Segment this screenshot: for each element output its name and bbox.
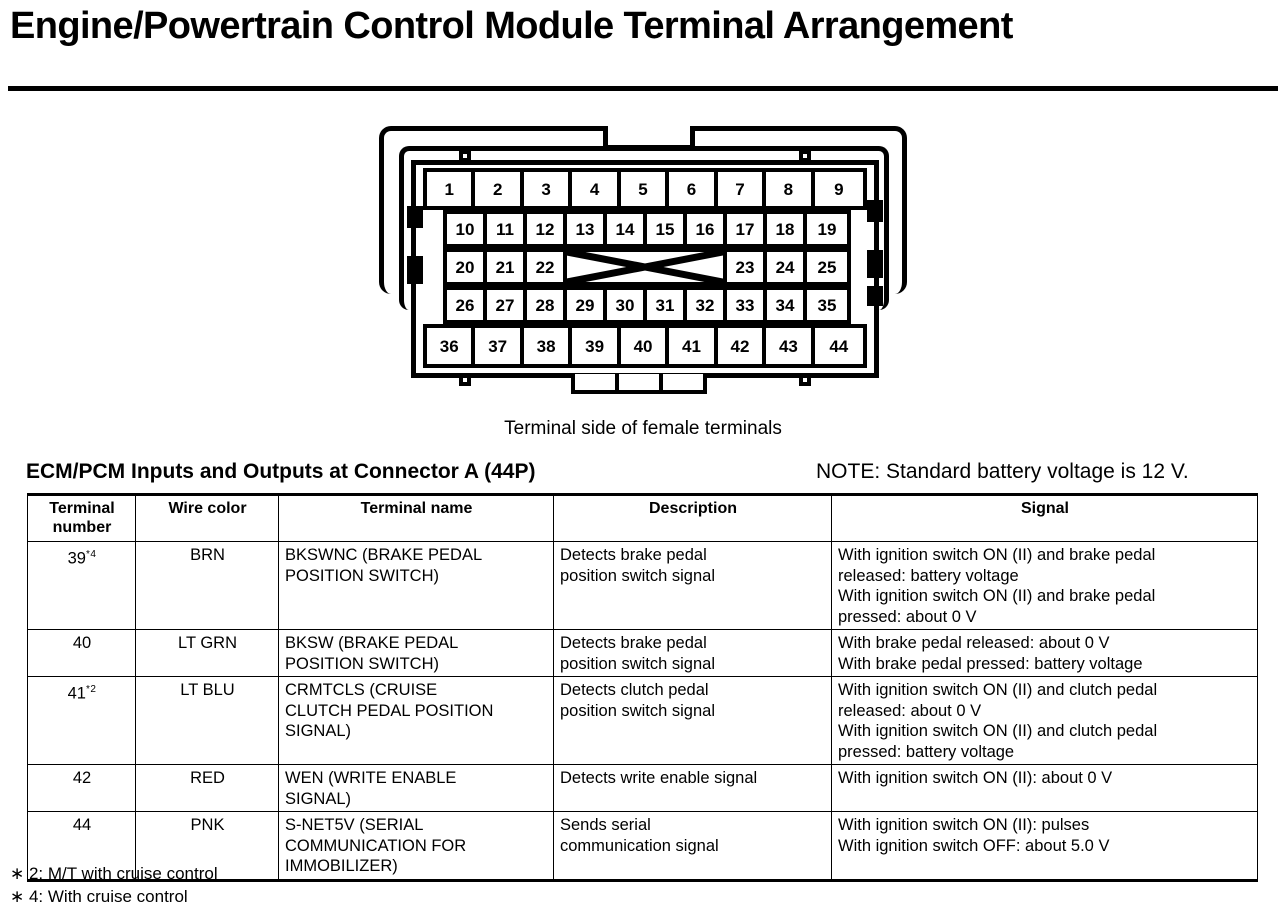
cell-terminal-number: 39*4 <box>28 542 136 630</box>
pin-16[interactable]: 16 <box>687 214 727 244</box>
section-note: NOTE: Standard battery voltage is 12 V. <box>816 460 1189 484</box>
connector-bottom-tabs-icon <box>571 374 707 394</box>
pin-11[interactable]: 11 <box>487 214 527 244</box>
pin-20[interactable]: 20 <box>447 252 487 282</box>
cell-terminal-name-line: S-NET5V (SERIAL <box>285 815 548 836</box>
pin-37[interactable]: 37 <box>475 328 523 364</box>
pin-6[interactable]: 6 <box>669 172 717 206</box>
pin-21[interactable]: 21 <box>487 252 527 282</box>
io-table: Terminal number Wire color Terminal name… <box>27 493 1258 882</box>
pin-13[interactable]: 13 <box>567 214 607 244</box>
cell-signal-line: With ignition switch OFF: about 5.0 V <box>838 836 1252 857</box>
cell-signal-line: With ignition switch ON (II): pulses <box>838 815 1252 836</box>
pin-29[interactable]: 29 <box>567 290 607 320</box>
table-row: 39*4BRNBKSWNC (BRAKE PEDALPOSITION SWITC… <box>28 542 1258 630</box>
pin-row-4: 26 27 28 29 30 31 32 33 34 35 <box>443 286 851 324</box>
pin-27[interactable]: 27 <box>487 290 527 320</box>
cell-terminal-name-line: CRMTCLS (CRUISE <box>285 680 548 701</box>
cell-signal: With brake pedal released: about 0 VWith… <box>832 630 1258 677</box>
column-header-terminal-number: Terminal number <box>28 495 136 542</box>
cell-wire-color-line: LT BLU <box>142 680 273 701</box>
cell-terminal-name-line: POSITION SWITCH) <box>285 566 548 587</box>
pin-row-5: 36 37 38 39 40 41 42 43 44 <box>423 324 867 368</box>
terminal-number-value: 41 <box>68 685 86 703</box>
cell-description-line: position switch signal <box>560 566 826 587</box>
cell-terminal-name-line: CLUTCH PEDAL POSITION <box>285 701 548 722</box>
cell-signal-line: With brake pedal pressed: battery voltag… <box>838 654 1252 675</box>
terminal-number-value: 42 <box>73 769 91 787</box>
footnote-2: ∗ 2: M/T with cruise control <box>10 862 218 885</box>
table-row: 40LT GRNBKSW (BRAKE PEDALPOSITION SWITCH… <box>28 630 1258 677</box>
cell-terminal-name: BKSWNC (BRAKE PEDALPOSITION SWITCH) <box>279 542 554 630</box>
cell-signal: With ignition switch ON (II): about 0 V <box>832 765 1258 812</box>
cell-signal-line: released: about 0 V <box>838 701 1252 722</box>
cell-signal-line: With ignition switch ON (II) and brake p… <box>838 586 1252 607</box>
pin-32[interactable]: 32 <box>687 290 727 320</box>
cell-description-line: position switch signal <box>560 654 826 675</box>
pin-22[interactable]: 22 <box>527 252 567 282</box>
pin-row-1: 1 2 3 4 5 6 7 8 9 <box>423 168 867 210</box>
cell-signal-line: With brake pedal released: about 0 V <box>838 633 1252 654</box>
cell-signal-line: With ignition switch ON (II) and clutch … <box>838 721 1252 742</box>
pin-12[interactable]: 12 <box>527 214 567 244</box>
pin-9[interactable]: 9 <box>815 172 863 206</box>
pin-40[interactable]: 40 <box>621 328 669 364</box>
cell-terminal-name-line: IMMOBILIZER) <box>285 856 548 877</box>
pin-row-2: 10 11 12 13 14 15 16 17 18 19 <box>443 210 851 248</box>
cell-description: Detects clutch pedalposition switch sign… <box>554 677 832 765</box>
connector-diagram: 1 2 3 4 5 6 7 8 9 10 11 12 13 14 15 16 1… <box>375 124 915 399</box>
cell-description-line: communication signal <box>560 836 826 857</box>
column-header-signal: Signal <box>832 495 1258 542</box>
cell-terminal-name: S-NET5V (SERIALCOMMUNICATION FORIMMOBILI… <box>279 812 554 881</box>
pin-24[interactable]: 24 <box>767 252 807 282</box>
cell-terminal-name: WEN (WRITE ENABLESIGNAL) <box>279 765 554 812</box>
pin-44[interactable]: 44 <box>815 328 863 364</box>
bottom-tab-3 <box>663 374 703 390</box>
cell-description-line: Detects brake pedal <box>560 545 826 566</box>
pin-10[interactable]: 10 <box>447 214 487 244</box>
cell-terminal-name-line: SIGNAL) <box>285 721 548 742</box>
cell-signal-line: released: battery voltage <box>838 566 1252 587</box>
pin-26[interactable]: 26 <box>447 290 487 320</box>
cell-terminal-name: CRMTCLS (CRUISECLUTCH PEDAL POSITIONSIGN… <box>279 677 554 765</box>
terminal-number-footnote-marker: *4 <box>86 549 96 560</box>
pin-4[interactable]: 4 <box>572 172 620 206</box>
table-header-row: Terminal number Wire color Terminal name… <box>28 495 1258 542</box>
pin-38[interactable]: 38 <box>524 328 572 364</box>
cell-description: Detects brake pedalposition switch signa… <box>554 542 832 630</box>
terminal-number-value: 39 <box>68 550 86 568</box>
column-header-wire-color: Wire color <box>136 495 279 542</box>
cell-terminal-number: 41*2 <box>28 677 136 765</box>
pin-31[interactable]: 31 <box>647 290 687 320</box>
bottom-tab-2 <box>619 374 663 390</box>
notch-top-left-icon <box>459 150 471 162</box>
notch-top-right-icon <box>799 150 811 162</box>
connector-top-latch-icon <box>603 126 695 150</box>
pin-39[interactable]: 39 <box>572 328 620 364</box>
pin-23[interactable]: 23 <box>727 252 767 282</box>
cell-signal-line: With ignition switch ON (II): about 0 V <box>838 768 1252 789</box>
cell-description-line: Detects clutch pedal <box>560 680 826 701</box>
cell-terminal-name-line: POSITION SWITCH) <box>285 654 548 675</box>
side-latch-left-mid-icon <box>407 256 423 284</box>
title-divider <box>8 86 1278 91</box>
side-latch-right-lower-icon <box>867 286 883 306</box>
side-latch-right-upper-icon <box>867 200 883 222</box>
cell-wire-color-line: LT GRN <box>142 633 273 654</box>
cell-signal: With ignition switch ON (II): pulsesWith… <box>832 812 1258 881</box>
cell-signal-line: pressed: battery voltage <box>838 742 1252 763</box>
connector-caption: Terminal side of female terminals <box>0 418 1286 440</box>
cell-wire-color: BRN <box>136 542 279 630</box>
cell-description-line: Detects brake pedal <box>560 633 826 654</box>
pin-43[interactable]: 43 <box>766 328 814 364</box>
terminal-number-value: 40 <box>73 634 91 652</box>
cell-wire-color-line: PNK <box>142 815 273 836</box>
notch-bottom-left-icon <box>459 374 471 386</box>
empty-cavity-cross-icon <box>567 252 727 282</box>
notch-bottom-right-icon <box>799 374 811 386</box>
pin-1[interactable]: 1 <box>427 172 475 206</box>
pin-30[interactable]: 30 <box>607 290 647 320</box>
cell-terminal-name: BKSW (BRAKE PEDALPOSITION SWITCH) <box>279 630 554 677</box>
table-row: 41*2LT BLUCRMTCLS (CRUISECLUTCH PEDAL PO… <box>28 677 1258 765</box>
pin-row-3: 20 21 22 23 24 25 <box>443 248 851 286</box>
pin-2[interactable]: 2 <box>475 172 523 206</box>
cell-terminal-name-line: BKSWNC (BRAKE PEDAL <box>285 545 548 566</box>
cell-signal-line: With ignition switch ON (II) and brake p… <box>838 545 1252 566</box>
cell-signal-line: pressed: about 0 V <box>838 607 1252 628</box>
pin-17[interactable]: 17 <box>727 214 767 244</box>
cell-wire-color: LT BLU <box>136 677 279 765</box>
cell-wire-color: LT GRN <box>136 630 279 677</box>
cell-description-line: Detects write enable signal <box>560 768 826 789</box>
table-head: Terminal number Wire color Terminal name… <box>28 495 1258 542</box>
terminal-number-footnote-marker: *2 <box>86 684 96 695</box>
terminal-number-value: 44 <box>73 816 91 834</box>
pin-34[interactable]: 34 <box>767 290 807 320</box>
table-row: 42REDWEN (WRITE ENABLESIGNAL)Detects wri… <box>28 765 1258 812</box>
cell-terminal-name-line: BKSW (BRAKE PEDAL <box>285 633 548 654</box>
cell-terminal-number: 42 <box>28 765 136 812</box>
cell-terminal-name-line: WEN (WRITE ENABLE <box>285 768 548 789</box>
column-header-terminal-name: Terminal name <box>279 495 554 542</box>
cell-terminal-number: 40 <box>28 630 136 677</box>
cell-description-line: position switch signal <box>560 701 826 722</box>
cell-terminal-name-line: SIGNAL) <box>285 789 548 810</box>
page-title: Engine/Powertrain Control Module Termina… <box>10 2 1276 50</box>
footnote-4: ∗ 4: With cruise control <box>10 885 218 908</box>
side-latch-left-upper-icon <box>407 206 423 228</box>
pin-18[interactable]: 18 <box>767 214 807 244</box>
cell-signal: With ignition switch ON (II) and brake p… <box>832 542 1258 630</box>
cell-terminal-name-line: COMMUNICATION FOR <box>285 836 548 857</box>
section-heading: ECM/PCM Inputs and Outputs at Connector … <box>26 460 535 484</box>
cell-description: Detects brake pedalposition switch signa… <box>554 630 832 677</box>
cell-description: Sends serialcommunication signal <box>554 812 832 881</box>
bottom-tab-1 <box>575 374 619 390</box>
cell-description: Detects write enable signal <box>554 765 832 812</box>
pin-8[interactable]: 8 <box>766 172 814 206</box>
cell-signal-line: With ignition switch ON (II) and clutch … <box>838 680 1252 701</box>
pin-3[interactable]: 3 <box>524 172 572 206</box>
pin-35[interactable]: 35 <box>807 290 847 320</box>
cell-wire-color-line: BRN <box>142 545 273 566</box>
cell-signal: With ignition switch ON (II) and clutch … <box>832 677 1258 765</box>
pin-41[interactable]: 41 <box>669 328 717 364</box>
pin-25[interactable]: 25 <box>807 252 847 282</box>
pin-42[interactable]: 42 <box>718 328 766 364</box>
pin-14[interactable]: 14 <box>607 214 647 244</box>
pin-5[interactable]: 5 <box>621 172 669 206</box>
pin-28[interactable]: 28 <box>527 290 567 320</box>
pin-15[interactable]: 15 <box>647 214 687 244</box>
cell-description-line: Sends serial <box>560 815 826 836</box>
footnotes: ∗ 2: M/T with cruise control ∗ 4: With c… <box>10 862 218 908</box>
side-latch-right-mid-icon <box>867 250 883 278</box>
cell-wire-color-line: RED <box>142 768 273 789</box>
column-header-description: Description <box>554 495 832 542</box>
pin-33[interactable]: 33 <box>727 290 767 320</box>
table-body: 39*4BRNBKSWNC (BRAKE PEDALPOSITION SWITC… <box>28 542 1258 881</box>
cell-wire-color: RED <box>136 765 279 812</box>
pin-36[interactable]: 36 <box>427 328 475 364</box>
pin-19[interactable]: 19 <box>807 214 847 244</box>
pin-7[interactable]: 7 <box>718 172 766 206</box>
